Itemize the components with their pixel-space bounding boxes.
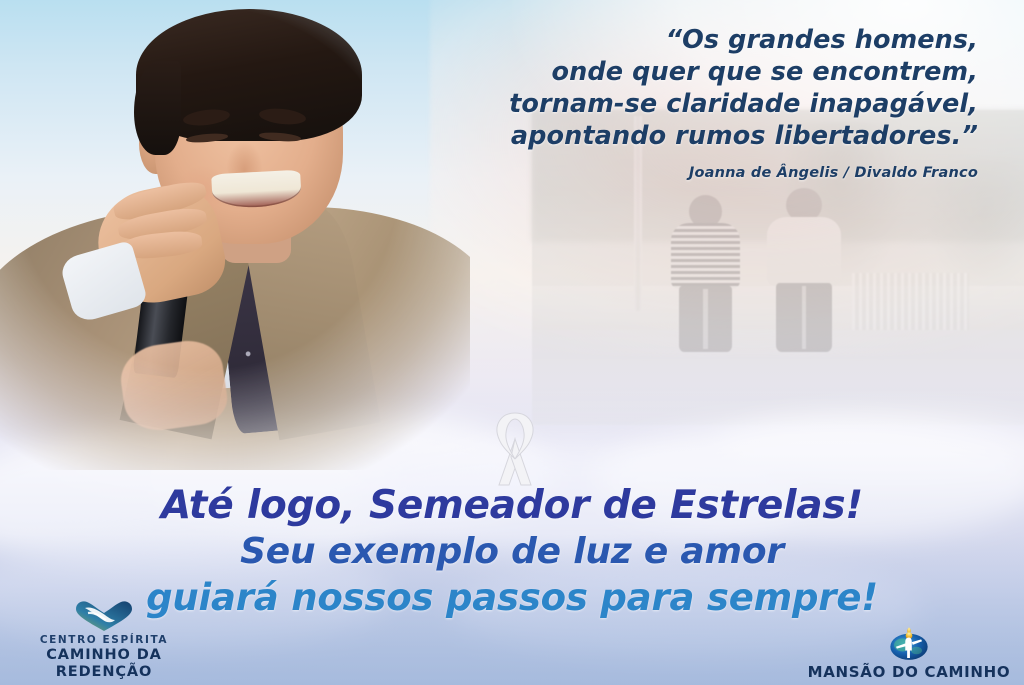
photo-figure-torso (671, 223, 740, 289)
photo-fence (852, 273, 969, 330)
photo-figure-legs (679, 286, 732, 352)
quote-line-4: apontando rumos libertadores.” (418, 120, 978, 152)
logo-left-line-2: CAMINHO DA REDENÇÃO (6, 647, 202, 681)
logo-centro-espirita: CENTRO ESPÍRITA CAMINHO DA REDENÇÃO (6, 599, 202, 681)
photo-figure-legs (776, 283, 833, 352)
hair-sideburn (134, 61, 181, 155)
quote-attribution: Joanna de Ângelis / Divaldo Franco (418, 165, 978, 181)
globe-figure-icon (802, 627, 1016, 661)
quote-block: “Os grandes homens, onde quer que se enc… (418, 24, 978, 181)
mourning-ribbon-icon (479, 409, 551, 487)
memorial-poster: “Os grandes homens, onde quer que se enc… (0, 0, 1024, 685)
photo-figure-torso (767, 217, 842, 286)
quote-line-3: tornam-se claridade inapagável, (418, 88, 978, 120)
logo-mansao-do-caminho: MANSÃO DO CAMINHO (802, 627, 1016, 681)
logo-left-line-1: CENTRO ESPÍRITA (6, 633, 202, 647)
headline-line-2: Seu exemplo de luz e amor (0, 534, 1024, 570)
headline-block: Até logo, Semeador de Estrelas! Seu exem… (0, 486, 1024, 616)
quote-line-1: “Os grandes homens, (418, 24, 978, 56)
heart-hands-icon (6, 599, 202, 633)
portrait-fade-mask (0, 0, 470, 470)
headline-line-1: Até logo, Semeador de Estrelas! (0, 486, 1024, 525)
logo-right-line-1: MANSÃO DO CAMINHO (802, 663, 1016, 681)
photo-figure-striped-shirt (671, 223, 740, 349)
portrait-divaldo-franco (0, 0, 470, 470)
quote-line-2: onde quer que se encontrem, (418, 56, 978, 88)
photo-figure-white-shirt (767, 217, 842, 349)
